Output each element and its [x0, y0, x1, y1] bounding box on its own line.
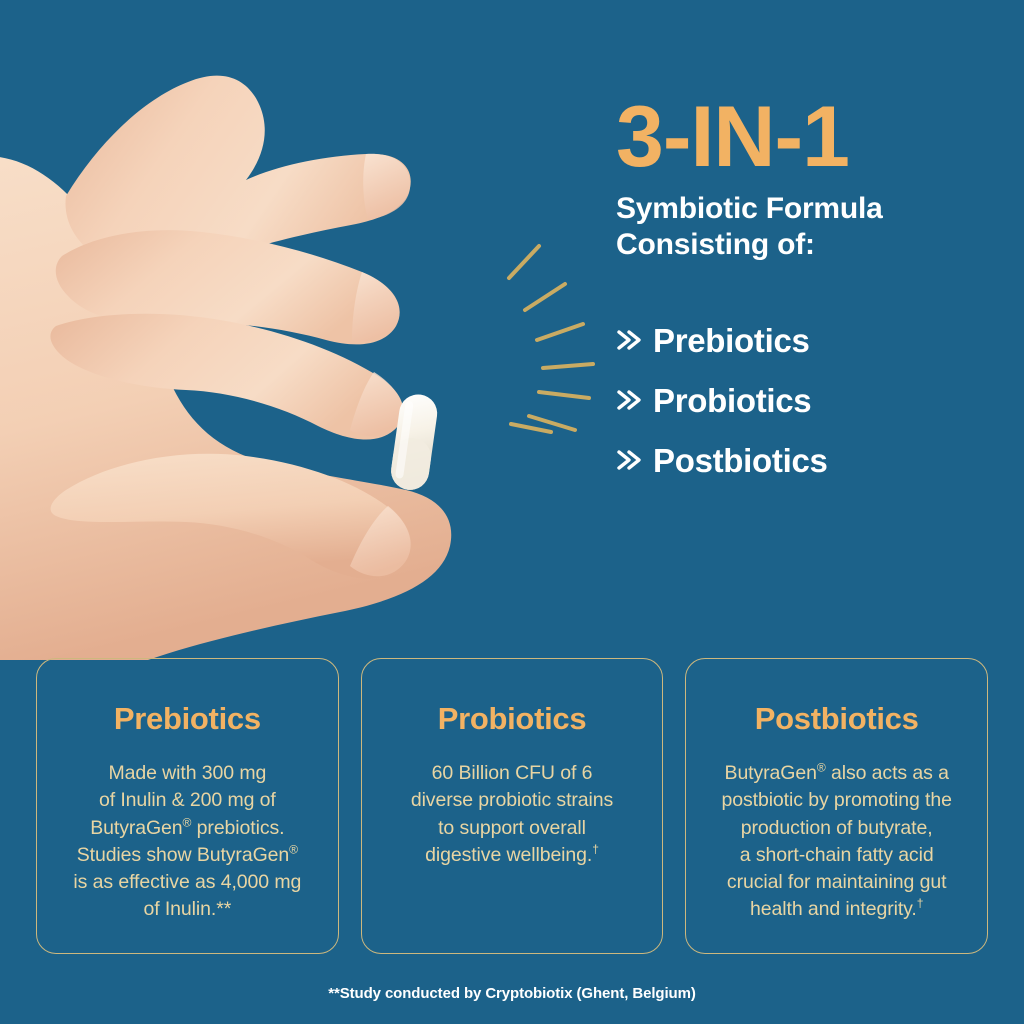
card-heading: Prebiotics	[114, 703, 261, 734]
infographic-canvas: 3-IN-1 Symbiotic Formula Consisting of: …	[0, 0, 1024, 1024]
bullet-label: Postbiotics	[653, 444, 828, 477]
card-body-line: of Inulin.**	[73, 896, 301, 923]
card-body-line: production of butyrate,	[722, 815, 952, 842]
double-chevron-right-icon	[616, 446, 642, 474]
card-body: Made with 300 mg of Inulin & 200 mg of B…	[73, 760, 301, 924]
card-body-line: diverse probiotic strains	[411, 787, 613, 814]
hero-subtitle-line-2: Consisting of:	[616, 227, 1006, 264]
card-body-line: 60 Billion CFU of 6	[411, 760, 613, 787]
card-heading: Postbiotics	[755, 703, 919, 734]
sparkle-rays-icon	[495, 240, 625, 440]
card-body-line: health and integrity.†	[722, 896, 952, 923]
footnote-text: **Study conducted by Cryptobiotix (Ghent…	[0, 985, 1024, 1002]
card-body-line: of Inulin & 200 mg of	[73, 787, 301, 814]
card-probiotics: Probiotics 60 Billion CFU of 6 diverse p…	[361, 658, 664, 954]
card-body: 60 Billion CFU of 6 diverse probiotic st…	[411, 760, 613, 869]
hero-subtitle-line-1: Symbiotic Formula	[616, 191, 1006, 228]
card-body-line: postbiotic by promoting the	[722, 787, 952, 814]
card-body-line: digestive wellbeing.†	[411, 842, 613, 869]
card-body-line: crucial for maintaining gut	[722, 869, 952, 896]
card-body: ButyraGen® also acts as a postbiotic by …	[722, 760, 952, 924]
benefit-cards-row: Prebiotics Made with 300 mg of Inulin & …	[36, 658, 988, 954]
hand-holding-capsule-image	[0, 20, 510, 660]
bullet-label: Prebiotics	[653, 324, 810, 357]
bullet-item-prebiotics: Prebiotics	[616, 318, 1006, 362]
card-prebiotics: Prebiotics Made with 300 mg of Inulin & …	[36, 658, 339, 954]
card-heading: Probiotics	[438, 703, 587, 734]
page-title: 3-IN-1	[616, 96, 1006, 179]
card-body-line: is as effective as 4,000 mg	[73, 869, 301, 896]
card-body-line: Made with 300 mg	[73, 760, 301, 787]
hero-headline-block: 3-IN-1 Symbiotic Formula Consisting of:	[616, 96, 1006, 264]
benefits-bullet-list: Prebiotics Probiotics	[616, 318, 1006, 482]
hero-subtitle: Symbiotic Formula Consisting of:	[616, 191, 1006, 264]
card-body-line: ButyraGen® also acts as a	[722, 760, 952, 787]
card-body-line: to support overall	[411, 815, 613, 842]
bullet-item-probiotics: Probiotics	[616, 378, 1006, 422]
card-body-line: ButyraGen® prebiotics.	[73, 815, 301, 842]
double-chevron-right-icon	[616, 386, 642, 414]
double-chevron-right-icon	[616, 326, 642, 354]
bullet-label: Probiotics	[653, 384, 811, 417]
card-body-line: a short-chain fatty acid	[722, 842, 952, 869]
card-body-line: Studies show ButyraGen®	[73, 842, 301, 869]
bullet-item-postbiotics: Postbiotics	[616, 438, 1006, 482]
card-postbiotics: Postbiotics ButyraGen® also acts as a po…	[685, 658, 988, 954]
